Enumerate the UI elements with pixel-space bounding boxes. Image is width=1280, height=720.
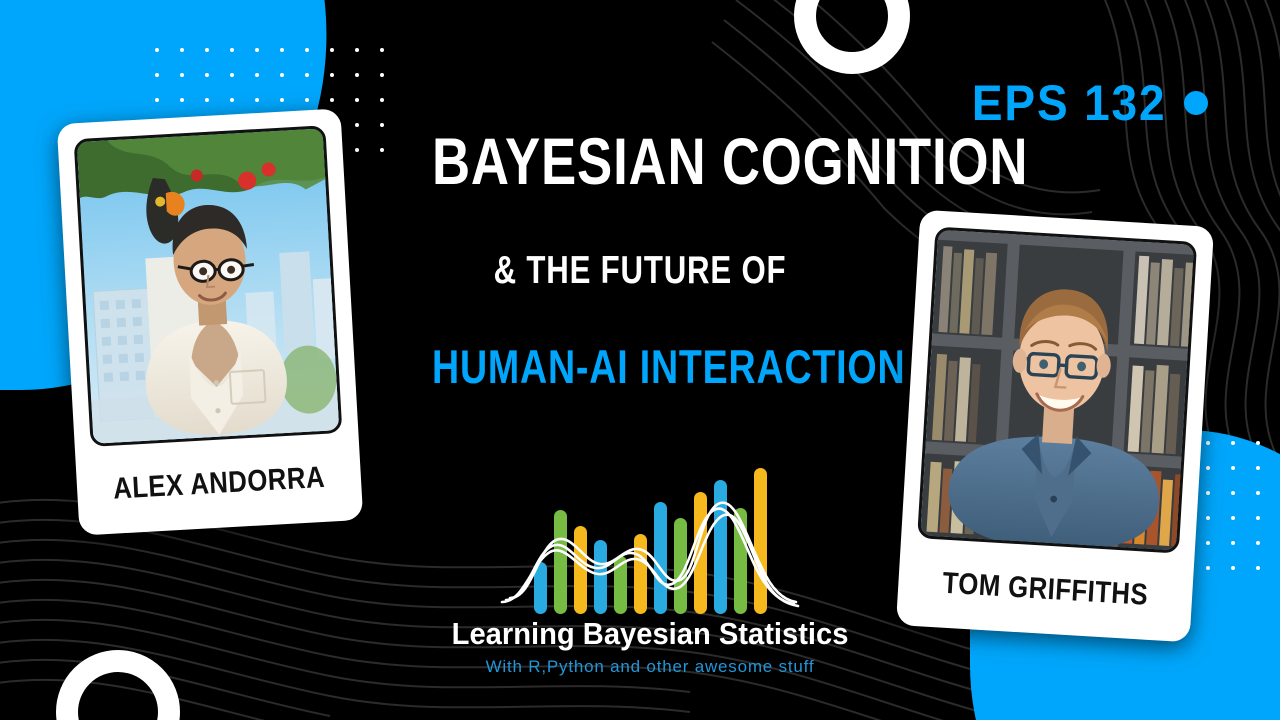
grid-dot [1231, 516, 1235, 520]
grid-dot [330, 48, 334, 52]
grid-dot [1256, 441, 1260, 445]
logo-title: Learning Bayesian Statistics [452, 616, 849, 652]
logo-subtitle: With R,Python and other awesome stuff [486, 657, 815, 677]
guest-name-tom-griffiths: TOM GRIFFITHS [930, 539, 1160, 640]
episode-badge: EPS 132 [955, 78, 1208, 128]
grid-dot [280, 73, 284, 77]
grid-dot [380, 48, 384, 52]
grid-dot [1256, 541, 1260, 545]
grid-dot [280, 48, 284, 52]
episode-number-label: EPS 132 [972, 78, 1166, 128]
grid-dot [1231, 466, 1235, 470]
title-line-accent: HUMAN-AI INTERACTION [432, 343, 848, 391]
grid-dot [1231, 566, 1235, 570]
title-block: BAYESIAN COGNITION & THE FUTURE OF HUMAN… [380, 128, 900, 391]
grid-dot [180, 98, 184, 102]
guest-card-tom-griffiths: TOM GRIFFITHS [896, 210, 1214, 643]
grid-dot [355, 98, 359, 102]
guest-card-alex-andorra: ALEX ANDORRA [57, 108, 364, 535]
grid-dot [1206, 541, 1210, 545]
guest-photo-tom-illustration [920, 230, 1197, 554]
grid-dot [255, 98, 259, 102]
grid-dot [1256, 491, 1260, 495]
grid-dot [380, 98, 384, 102]
grid-dot [230, 48, 234, 52]
grid-dot [205, 48, 209, 52]
grid-dot [155, 98, 159, 102]
grid-dot [380, 123, 384, 127]
logo-histogram-graphic [500, 462, 800, 614]
grid-dot [255, 48, 259, 52]
grid-dot [1206, 441, 1210, 445]
grid-dot [155, 73, 159, 77]
grid-dot [1256, 566, 1260, 570]
title-line-primary: BAYESIAN COGNITION [432, 128, 848, 195]
grid-dot [305, 73, 309, 77]
grid-dot [380, 73, 384, 77]
grid-dot [255, 73, 259, 77]
filled-circle-icon [1184, 91, 1208, 115]
grid-dot [230, 73, 234, 77]
grid-dot [1231, 541, 1235, 545]
guest-photo-tom-griffiths [917, 227, 1197, 554]
grid-dot [205, 98, 209, 102]
grid-dot [280, 98, 284, 102]
grid-dot [330, 98, 334, 102]
grid-dot [330, 73, 334, 77]
podcast-logo: Learning Bayesian Statistics With R,Pyth… [440, 462, 860, 694]
title-line-connector: & THE FUTURE OF [432, 251, 848, 291]
podcast-episode-cover: EPS 132 BAYESIAN COGNITION & THE FUTURE … [0, 0, 1280, 720]
logo-density-curves [500, 462, 800, 614]
guest-photo-alex-andorra [74, 125, 343, 447]
grid-dot [355, 123, 359, 127]
grid-dot [1206, 466, 1210, 470]
grid-dot [1256, 516, 1260, 520]
grid-dot [305, 98, 309, 102]
grid-dot [230, 98, 234, 102]
grid-dot [1206, 566, 1210, 570]
grid-dot [355, 73, 359, 77]
guest-name-alex-andorra: ALEX ANDORRA [108, 434, 329, 534]
grid-dot [305, 48, 309, 52]
grid-dot [1231, 491, 1235, 495]
grid-dot [1231, 441, 1235, 445]
grid-dot [1256, 466, 1260, 470]
grid-dot [355, 148, 359, 152]
grid-dot [205, 73, 209, 77]
grid-dot [355, 48, 359, 52]
grid-dot [180, 48, 184, 52]
grid-dot [180, 73, 184, 77]
grid-dot [1206, 491, 1210, 495]
grid-dot [155, 48, 159, 52]
grid-dot [1206, 516, 1210, 520]
guest-photo-alex-illustration [77, 128, 343, 447]
